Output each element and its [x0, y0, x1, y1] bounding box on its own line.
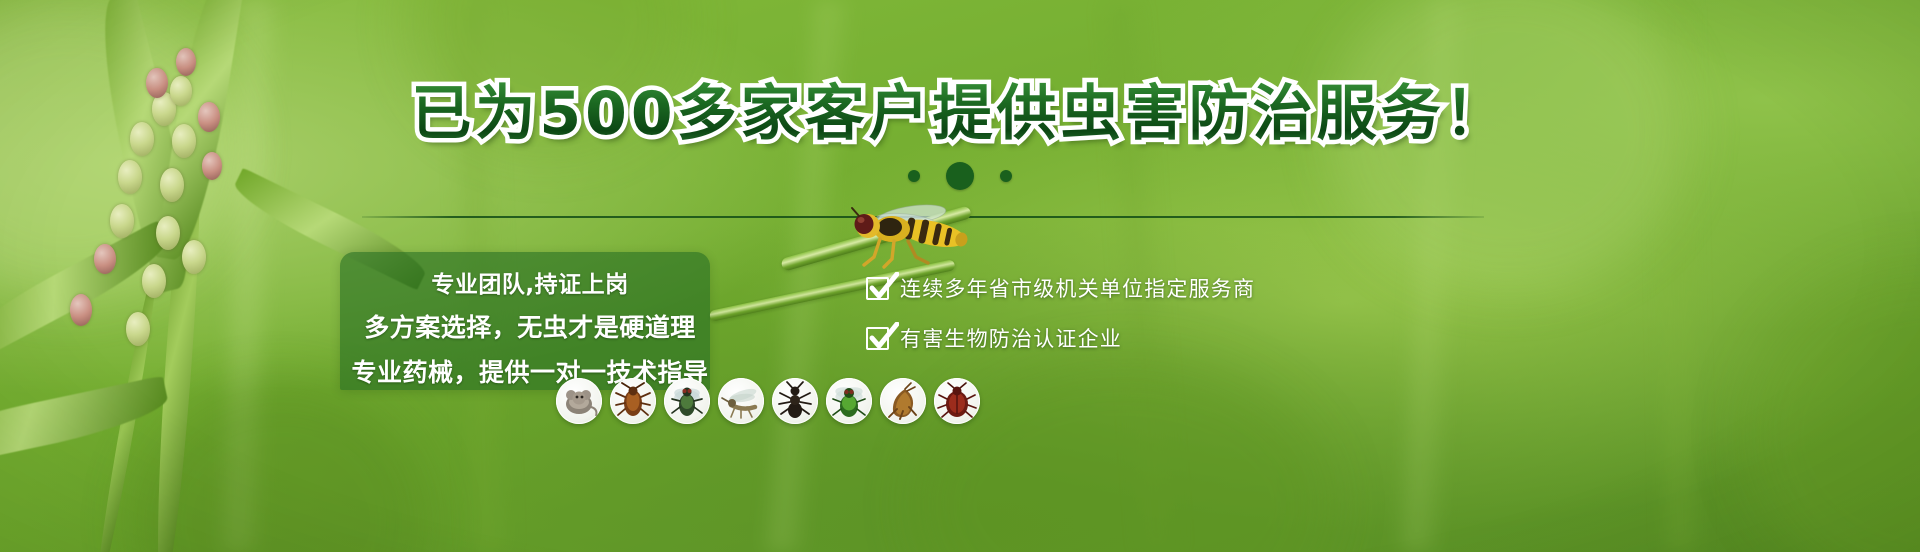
promo-banner: 已为500多家客户提供虫害防治服务！ 已为500多家客户提供虫害防治服务！ [0, 0, 1920, 552]
vignette-overlay [0, 0, 1920, 552]
